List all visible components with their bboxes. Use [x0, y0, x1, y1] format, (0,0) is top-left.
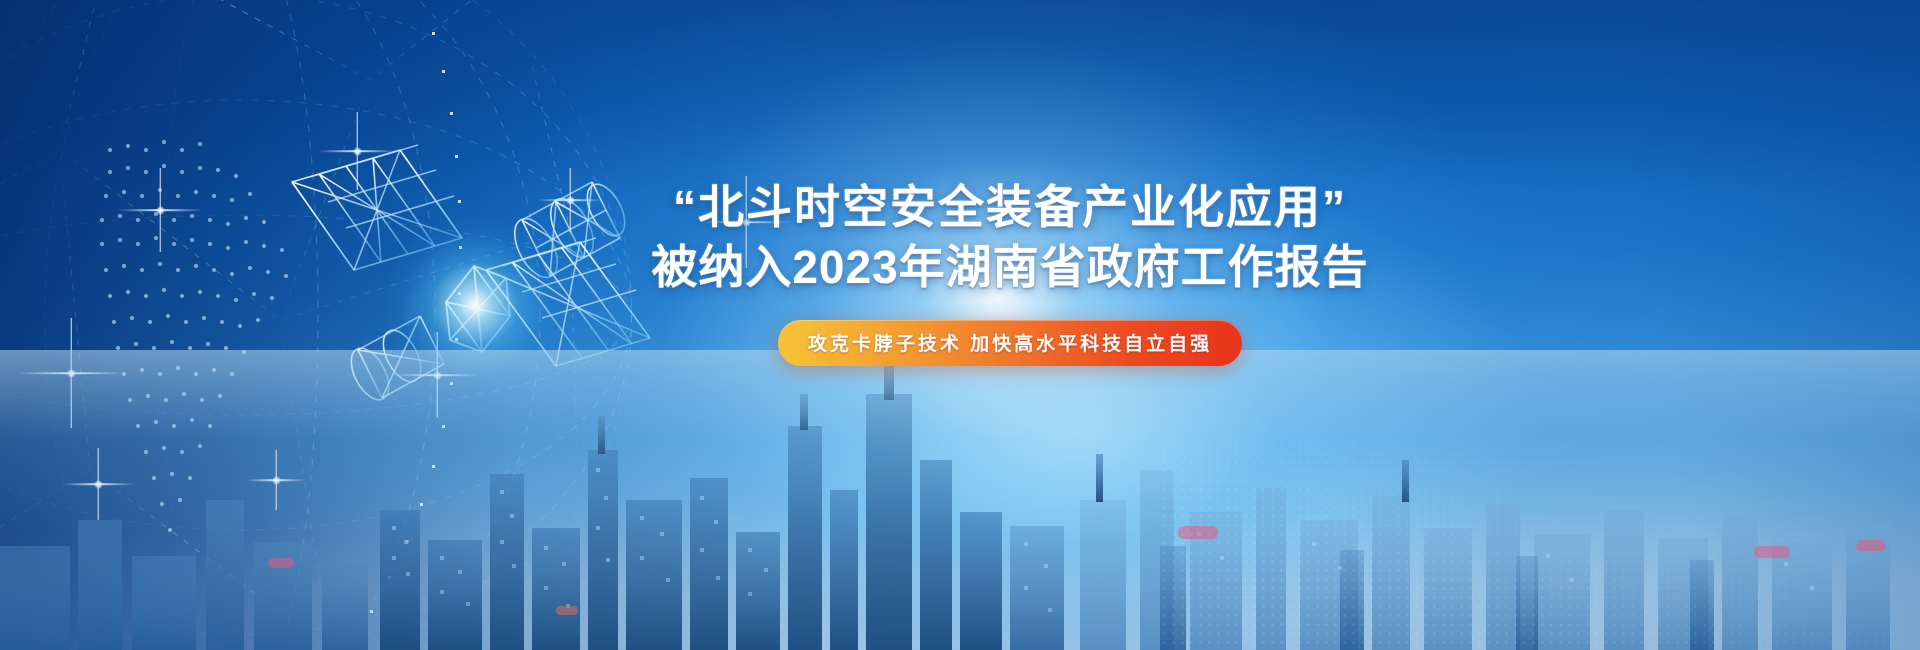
sparkle-star-icon: [394, 332, 480, 418]
city-atmospheric-haze: [0, 350, 1920, 650]
binary-dot-matrix: [1160, 440, 1920, 650]
sparkle-star-icon: [246, 450, 306, 510]
city-skyline-icon: [0, 350, 1920, 650]
banner-hero: “北斗时空安全装备产业化应用” 被纳入2023年湖南省政府工作报告 攻克卡脖子技…: [0, 0, 1920, 650]
status-badge: 攻克卡脖子技术 加快高水平科技自立自强: [778, 320, 1242, 366]
sparkle-star-icon: [538, 168, 602, 232]
hero-copy: “北斗时空安全装备产业化应用” 被纳入2023年湖南省政府工作报告 攻克卡脖子技…: [640, 178, 1380, 366]
sparkle-star-icon: [62, 448, 134, 520]
sparkle-star-icon: [16, 318, 126, 428]
headline-line-2: 被纳入2023年湖南省政府工作报告: [640, 238, 1380, 298]
wireframe-globe-icon: [0, 0, 590, 650]
headline-line-1: “北斗时空安全装备产业化应用”: [640, 178, 1380, 238]
sparkle-star-icon: [118, 168, 202, 252]
satellite-wireframe-icon: [250, 120, 680, 390]
badge-row: 攻克卡脖子技术 加快高水平科技自立自强: [640, 320, 1380, 366]
satellite-core-glow: [385, 215, 565, 395]
page-title: “北斗时空安全装备产业化应用” 被纳入2023年湖南省政府工作报告: [640, 178, 1380, 298]
sparkle-star-icon: [318, 112, 396, 190]
